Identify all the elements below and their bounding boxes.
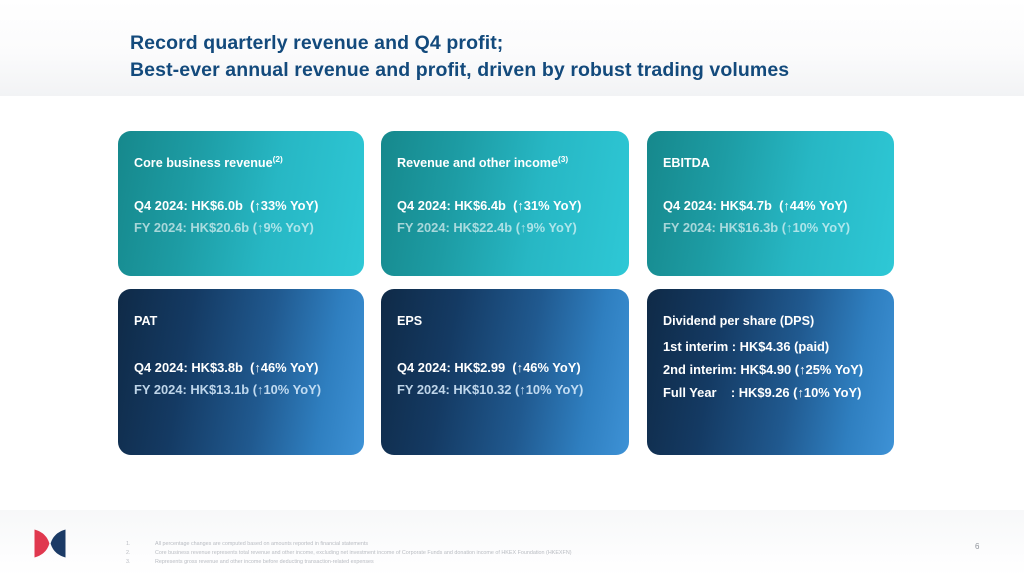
card-lines: Q4 2024: HK$3.8b (↑46% YoY) FY 2024: HK$… bbox=[134, 357, 364, 401]
card-line-fy: FY 2024: HK$22.4b (↑9% YoY) bbox=[397, 217, 629, 239]
card-lines: 1st interim : HK$4.36 (paid) 2nd interim… bbox=[663, 335, 894, 404]
card-heading-text: Core business revenue bbox=[134, 156, 273, 170]
card-line-fy: FY 2024: HK$13.1b (↑10% YoY) bbox=[134, 379, 364, 401]
card-line-q4: Q4 2024: HK$6.0b (↑33% YoY) bbox=[134, 195, 364, 217]
card-line-q4: Q4 2024: HK$2.99 (↑46% YoY) bbox=[397, 357, 629, 379]
footnotes: 1. All percentage changes are computed b… bbox=[126, 540, 886, 567]
card-heading-text: EBITDA bbox=[663, 156, 710, 170]
card-lines: Q4 2024: HK$2.99 (↑46% YoY) FY 2024: HK$… bbox=[397, 357, 629, 401]
card-line-fy: FY 2024: HK$16.3b (↑10% YoY) bbox=[663, 217, 894, 239]
metric-card-grid: Core business revenue(2) Q4 2024: HK$6.0… bbox=[118, 131, 894, 455]
card-lines: Q4 2024: HK$4.7b (↑44% YoY) FY 2024: HK$… bbox=[663, 195, 894, 239]
footnote-number: 2. bbox=[126, 549, 155, 558]
card-heading: EBITDA bbox=[663, 155, 894, 171]
card-lines: Q4 2024: HK$6.0b (↑33% YoY) FY 2024: HK$… bbox=[134, 195, 364, 239]
footnote-text: All percentage changes are computed base… bbox=[155, 540, 886, 549]
metric-card-ebitda[interactable]: EBITDA Q4 2024: HK$4.7b (↑44% YoY) FY 20… bbox=[647, 131, 894, 276]
card-line-first-interim: 1st interim : HK$4.36 (paid) bbox=[663, 335, 894, 358]
card-heading-text: PAT bbox=[134, 314, 157, 328]
card-line-q4: Q4 2024: HK$6.4b (↑31% YoY) bbox=[397, 195, 629, 217]
card-line-full-year: Full Year : HK$9.26 (↑10% YoY) bbox=[663, 381, 894, 404]
slide-root: Record quarterly revenue and Q4 profit; … bbox=[0, 0, 1024, 576]
page-title: Record quarterly revenue and Q4 profit; … bbox=[130, 30, 960, 84]
card-heading-text: Dividend per share (DPS) bbox=[663, 314, 814, 328]
card-heading-footnote-ref: (3) bbox=[558, 154, 568, 164]
card-lines: Q4 2024: HK$6.4b (↑31% YoY) FY 2024: HK$… bbox=[397, 195, 629, 239]
metric-card-pat[interactable]: PAT Q4 2024: HK$3.8b (↑46% YoY) FY 2024:… bbox=[118, 289, 364, 455]
footnote-text: Core business revenue represents total r… bbox=[155, 549, 886, 558]
hkex-logo bbox=[33, 528, 67, 559]
metric-card-dividend-per-share[interactable]: Dividend per share (DPS) 1st interim : H… bbox=[647, 289, 894, 455]
card-line-q4: Q4 2024: HK$4.7b (↑44% YoY) bbox=[663, 195, 894, 217]
card-heading: Dividend per share (DPS) bbox=[663, 313, 894, 329]
footnote-text: Represents gross revenue and other incom… bbox=[155, 558, 886, 567]
page-title-line-2: Best-ever annual revenue and profit, dri… bbox=[130, 57, 960, 84]
footnote-item: 3. Represents gross revenue and other in… bbox=[126, 558, 886, 567]
card-line-second-interim: 2nd interim: HK$4.90 (↑25% YoY) bbox=[663, 358, 894, 381]
card-line-fy: FY 2024: HK$10.32 (↑10% YoY) bbox=[397, 379, 629, 401]
page-title-line-1: Record quarterly revenue and Q4 profit; bbox=[130, 30, 960, 57]
card-heading: EPS bbox=[397, 313, 629, 329]
card-heading: Revenue and other income(3) bbox=[397, 155, 629, 171]
card-heading-footnote-ref: (2) bbox=[273, 154, 283, 164]
metric-card-eps[interactable]: EPS Q4 2024: HK$2.99 (↑46% YoY) FY 2024:… bbox=[381, 289, 629, 455]
card-heading: PAT bbox=[134, 313, 364, 329]
card-heading-text: Revenue and other income bbox=[397, 156, 558, 170]
metric-card-revenue-and-other-income[interactable]: Revenue and other income(3) Q4 2024: HK$… bbox=[381, 131, 629, 276]
page-number: 6 bbox=[975, 542, 995, 551]
card-line-q4: Q4 2024: HK$3.8b (↑46% YoY) bbox=[134, 357, 364, 379]
footnote-item: 2. Core business revenue represents tota… bbox=[126, 549, 886, 558]
card-heading-text: EPS bbox=[397, 314, 422, 328]
footnote-number: 3. bbox=[126, 558, 155, 567]
metric-card-core-business-revenue[interactable]: Core business revenue(2) Q4 2024: HK$6.0… bbox=[118, 131, 364, 276]
footnote-item: 1. All percentage changes are computed b… bbox=[126, 540, 886, 549]
card-heading: Core business revenue(2) bbox=[134, 155, 364, 171]
footnote-number: 1. bbox=[126, 540, 155, 549]
card-line-fy: FY 2024: HK$20.6b (↑9% YoY) bbox=[134, 217, 364, 239]
